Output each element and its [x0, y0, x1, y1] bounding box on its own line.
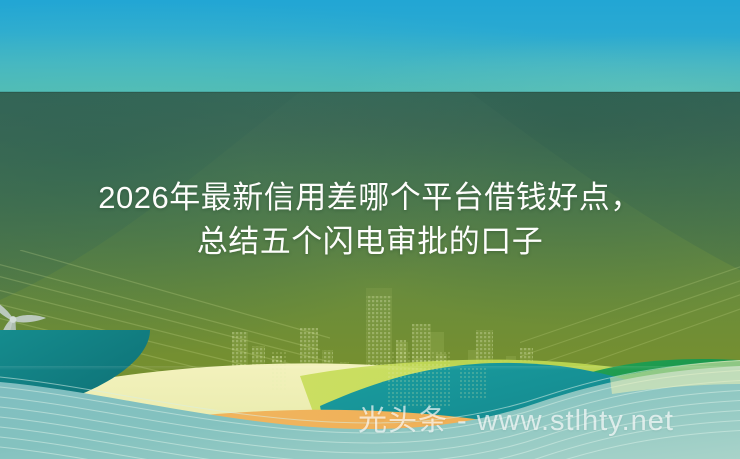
- mid-band-seam: [0, 366, 740, 370]
- cover-image-canvas: 2026年最新信用差哪个平台借钱好点， 总结五个闪电审批的口子 光头条 - ww…: [0, 0, 740, 459]
- sky-ground-seam: [0, 91, 740, 93]
- watermark: 光头条 - www.stlhty.net: [358, 404, 674, 438]
- page-title: 2026年最新信用差哪个平台借钱好点， 总结五个闪电审批的口子: [0, 176, 740, 264]
